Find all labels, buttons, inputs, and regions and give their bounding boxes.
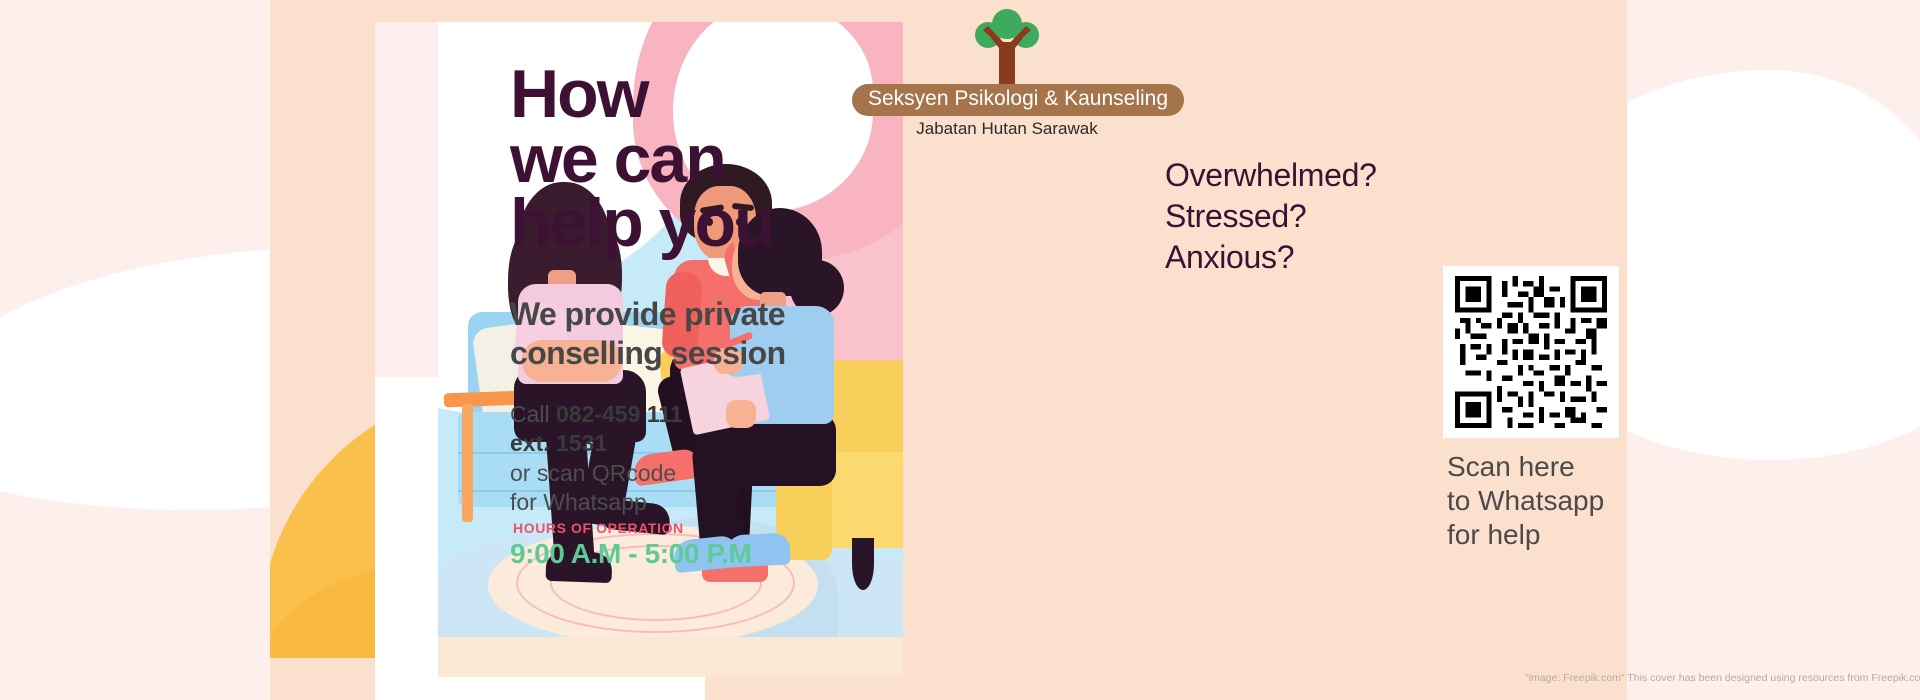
logo-org-name: Seksyen Psikologi & Kaunseling (852, 84, 1184, 116)
question-3: Anxious? (1165, 237, 1377, 278)
qr-code-panel[interactable] (1443, 266, 1619, 438)
question-prompts: Overwhelmed? Stressed? Anxious? (1165, 155, 1377, 278)
attribution-credit: "image: Freepik.com" This cover has been… (1525, 672, 1920, 684)
qr-caption-line-3: for help (1447, 518, 1604, 552)
tree-icon (969, 8, 1045, 88)
contact-line-3: or scan QRcode (510, 459, 810, 488)
page-title: How we can help you (510, 62, 850, 256)
hours-value: 9:00 A.M - 5:00 P.M (510, 538, 751, 570)
qr-caption-line-2: to Whatsapp (1447, 484, 1604, 518)
sofa-leg-left (462, 404, 473, 522)
headline-line-2: we can (510, 127, 850, 192)
phone-number[interactable]: 082-459 111 (556, 401, 683, 427)
qr-caption-line-1: Scan here (1447, 450, 1604, 484)
subheadline-line-1: We provide private (510, 295, 840, 334)
logo-department: Jabatan Hutan Sarawak (852, 119, 1162, 139)
contact-block: Call 082-459 111 ext. 1531 or scan QRcod… (510, 400, 810, 518)
counselor-eye (744, 262, 750, 269)
subheadline-line-2: conselling session (510, 334, 840, 373)
subheadline: We provide private conselling session (510, 295, 840, 373)
call-prefix: Call (510, 401, 556, 427)
question-1: Overwhelmed? (1165, 155, 1377, 196)
qr-caption: Scan here to Whatsapp for help (1447, 450, 1604, 552)
hours-label: HOURS OF OPERATION (513, 520, 684, 536)
headline-line-3: help you (510, 191, 850, 256)
contact-line-4: for Whatsapp (510, 488, 810, 517)
qr-code-icon[interactable] (1453, 276, 1609, 428)
scene-floor-strip (438, 637, 903, 677)
question-2: Stressed? (1165, 196, 1377, 237)
armchair-leg (852, 538, 874, 590)
poster-canvas: Seksyen Psikologi & Kaunseling Jabatan H… (0, 0, 1920, 700)
phone-extension: ext. 1531 (510, 430, 607, 456)
headline-line-1: How (510, 62, 850, 127)
organization-logo: Seksyen Psikologi & Kaunseling Jabatan H… (852, 8, 1162, 139)
